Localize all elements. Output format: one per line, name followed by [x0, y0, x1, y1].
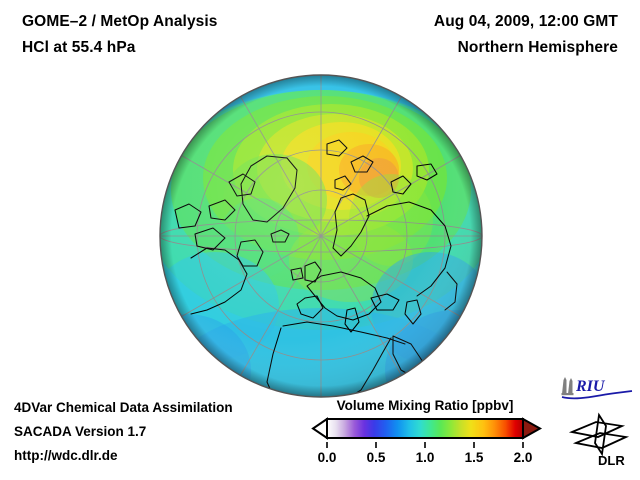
colorbar-gradient: [300, 417, 550, 443]
colorbar-tick-4: 2.0: [514, 450, 533, 465]
colorbar-ticks: 0.0 0.5 1.0 1.5 2.0: [300, 442, 550, 468]
footer-line-2: SACADA Version 1.7: [14, 424, 146, 439]
colorbar: Volume Mixing Ratio [ppbv]: [300, 398, 550, 470]
dlr-mark-icon: [572, 415, 626, 454]
globe-rim: [160, 75, 482, 397]
colorbar-left-cap: [313, 419, 327, 438]
riu-logo: RIU: [560, 374, 634, 400]
riu-logo-text: RIU: [575, 378, 606, 395]
colorbar-tick-1: 0.5: [367, 450, 386, 465]
colorbar-tick-3: 1.5: [465, 450, 484, 465]
colorbar-tick-0: 0.0: [318, 450, 337, 465]
page-subtitle: HCl at 55.4 hPa: [22, 39, 136, 57]
colorbar-right-cap: [523, 419, 540, 438]
colorbar-tick-2: 1.0: [416, 450, 435, 465]
riu-tower-icon: [562, 377, 574, 395]
footer-line-1: 4DVar Chemical Data Assimilation: [14, 400, 233, 415]
orthographic-projection: [155, 70, 487, 402]
footer-line-3: http://wdc.dlr.de: [14, 448, 118, 463]
hemisphere-label: Northern Hemisphere: [458, 39, 618, 57]
dlr-logo: DLR: [566, 412, 632, 468]
page-title: GOME–2 / MetOp Analysis: [22, 13, 218, 31]
colorbar-bar: [327, 419, 523, 438]
globe-map: [155, 70, 487, 402]
colorbar-tick-marks: [300, 442, 550, 450]
colorbar-title: Volume Mixing Ratio [ppbv]: [300, 398, 550, 413]
dlr-logo-text: DLR: [598, 453, 625, 468]
date-label: Aug 04, 2009, 12:00 GMT: [434, 13, 618, 31]
